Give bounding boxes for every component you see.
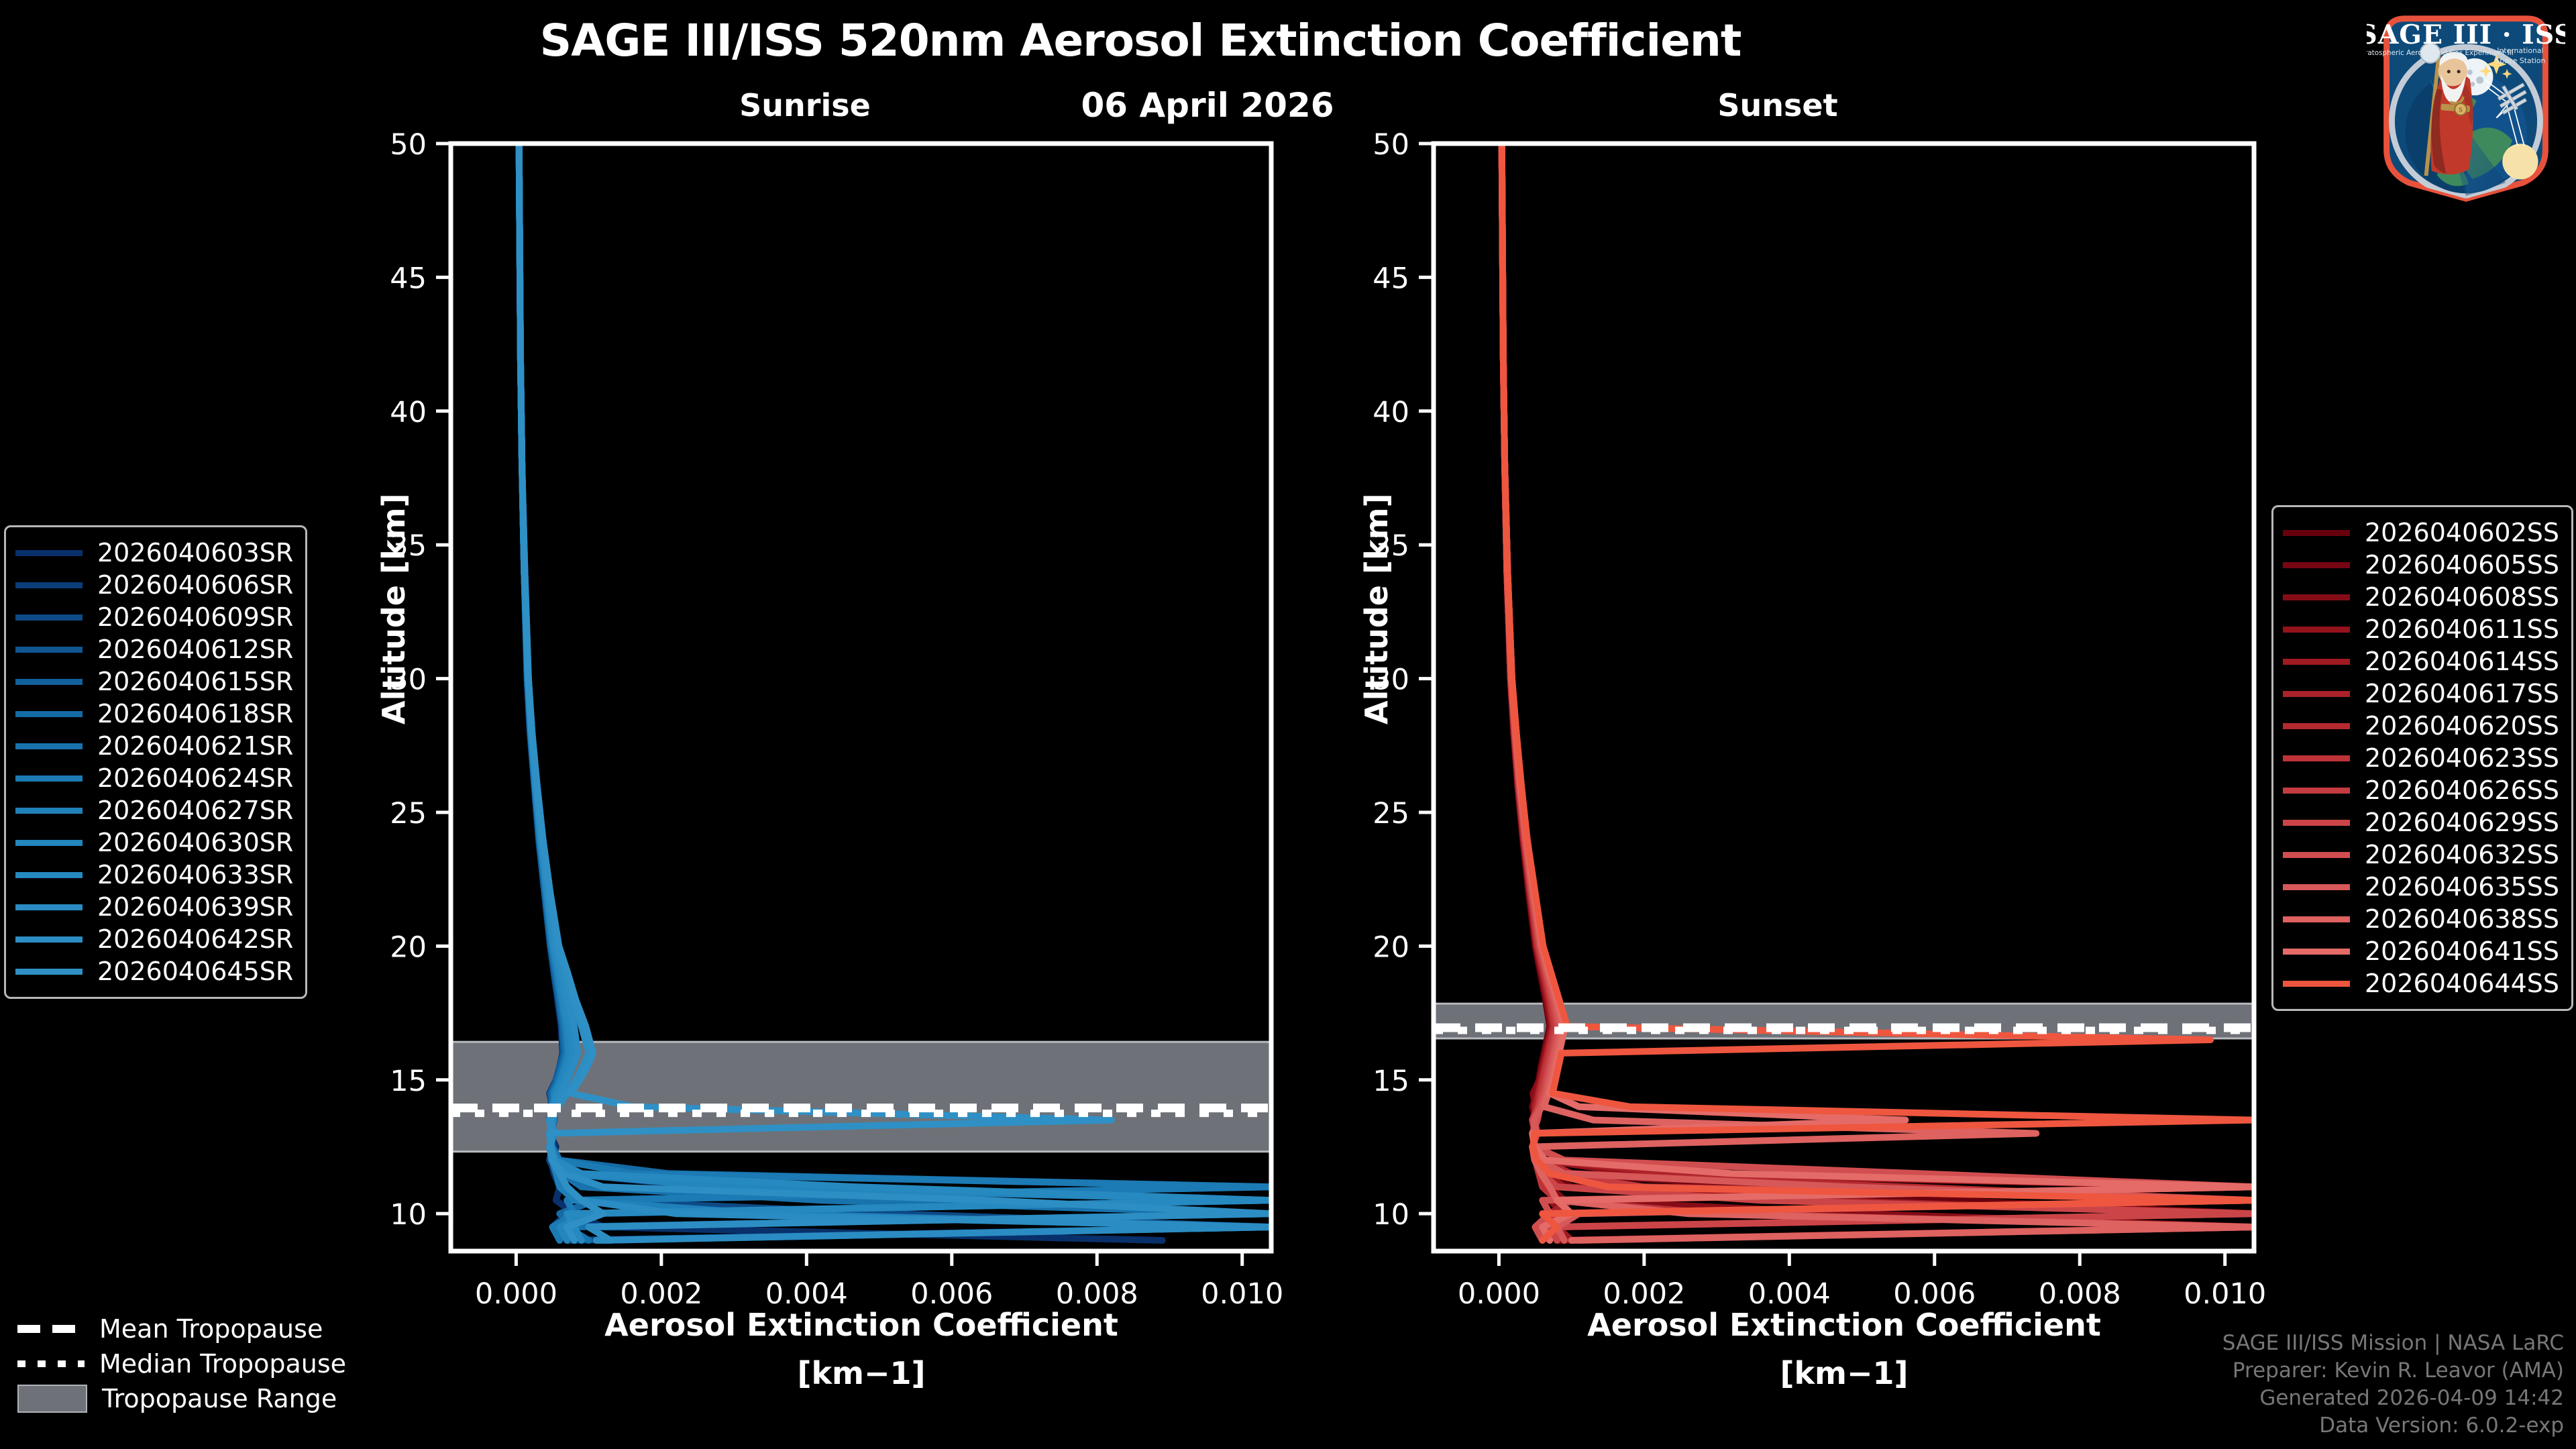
- legend-item[interactable]: 2026040624SR: [15, 762, 293, 794]
- tropopause-legend-label: Mean Tropopause: [99, 1314, 323, 1344]
- legend-item-label: 2026040611SS: [2365, 614, 2559, 644]
- legend-color-swatch: [15, 808, 83, 814]
- legend-color-swatch: [2283, 788, 2350, 794]
- legend-item[interactable]: 2026040614SS: [2283, 645, 2559, 678]
- legend-item[interactable]: 2026040641SS: [2283, 935, 2559, 967]
- tropopause-line-swatch: [17, 1325, 85, 1333]
- x-tick-label: 0.000: [475, 1277, 557, 1311]
- legend-item-label: 2026040615SR: [97, 667, 293, 696]
- legend-item-label: 2026040644SS: [2365, 969, 2559, 998]
- legend-item-label: 2026040626SS: [2365, 775, 2559, 805]
- legend-item[interactable]: 2026040618SR: [15, 698, 293, 730]
- tropopause-legend-item[interactable]: Median Tropopause: [17, 1346, 346, 1381]
- legend-color-swatch: [15, 775, 83, 782]
- x-tick-label: 0.010: [1201, 1277, 1283, 1311]
- legend-item[interactable]: 2026040620SS: [2283, 710, 2559, 742]
- x-tick-label: 0.002: [620, 1277, 702, 1311]
- series-line: [1502, 144, 2254, 1240]
- legend-item[interactable]: 2026040608SS: [2283, 581, 2559, 613]
- series-line: [1502, 144, 2254, 1240]
- legend-item-label: 2026040629SS: [2365, 808, 2559, 837]
- legend-color-swatch: [15, 872, 83, 878]
- x-tick-label: 0.006: [910, 1277, 993, 1311]
- y-tick-label: 20: [390, 930, 427, 964]
- legend-color-swatch: [15, 679, 83, 685]
- legend-color-swatch: [2283, 627, 2350, 633]
- y-tick-label: 50: [1373, 128, 1409, 162]
- x-tick-label: 0.006: [1893, 1277, 1976, 1311]
- y-tick-label: 10: [1373, 1198, 1409, 1232]
- legend-color-swatch: [15, 969, 83, 975]
- legend-item[interactable]: 2026040609SR: [15, 601, 293, 633]
- legend-item[interactable]: 2026040621SR: [15, 730, 293, 762]
- legend-item[interactable]: 2026040639SR: [15, 891, 293, 923]
- legend-item-label: 2026040623SS: [2365, 743, 2559, 773]
- y-tick-label: 15: [390, 1065, 427, 1098]
- panel-sunrise: 0.0000.0020.0040.0060.0080.0101015202530…: [390, 128, 1283, 1311]
- legend-item-label: 2026040606SR: [97, 570, 293, 600]
- legend-item[interactable]: 2026040603SR: [15, 537, 293, 569]
- legend-item[interactable]: 2026040623SS: [2283, 742, 2559, 774]
- legend-item[interactable]: 2026040626SS: [2283, 774, 2559, 806]
- y-tick-label: 50: [390, 128, 427, 162]
- legend-color-swatch: [2283, 659, 2350, 665]
- legend-color-swatch: [15, 840, 83, 846]
- y-tick-label: 40: [390, 396, 427, 429]
- series-line: [1502, 144, 2254, 1240]
- series-line: [1502, 144, 2254, 1240]
- legend-item-label: 2026040618SR: [97, 699, 293, 729]
- legend-item-label: 2026040624SR: [97, 763, 293, 793]
- tropopause-line-swatch: [17, 1360, 85, 1367]
- y-tick-label: 20: [1373, 930, 1409, 964]
- series-line: [1502, 144, 2254, 1240]
- tropopause-legend-label: Median Tropopause: [99, 1349, 346, 1379]
- x-tick-label: 0.000: [1458, 1277, 1540, 1311]
- legend-color-swatch: [15, 936, 83, 943]
- series-line: [1502, 144, 2254, 1240]
- legend-item-label: 2026040620SS: [2365, 711, 2559, 741]
- tropopause-legend-label: Tropopause Range: [102, 1384, 337, 1413]
- legend-item[interactable]: 2026040606SR: [15, 569, 293, 601]
- legend-color-swatch: [15, 647, 83, 653]
- credit-line-version: Data Version: 6.0.2-exp: [2222, 1412, 2564, 1440]
- legend-item[interactable]: 2026040602SS: [2283, 517, 2559, 549]
- series-line: [1502, 144, 2254, 1240]
- legend-item-label: 2026040642SR: [97, 924, 293, 954]
- tropopause-legend[interactable]: Mean TropopauseMedian TropopauseTropopau…: [17, 1311, 346, 1416]
- right-xaxis-title: Aerosol Extinction Coefficient: [1434, 1307, 2255, 1343]
- legend-color-swatch: [2283, 820, 2350, 826]
- left-xaxis-unit: [km−1]: [451, 1355, 1272, 1391]
- legend-item-label: 2026040603SR: [97, 538, 293, 568]
- y-tick-label: 25: [1373, 797, 1409, 830]
- legend-color-swatch: [2283, 723, 2350, 729]
- tropopause-legend-item[interactable]: Tropopause Range: [17, 1381, 346, 1416]
- credits-block: SAGE III/ISS Mission | NASA LaRC Prepare…: [2222, 1330, 2564, 1440]
- legend-item[interactable]: 2026040645SR: [15, 955, 293, 987]
- legend-color-swatch: [2283, 949, 2350, 955]
- aerosol-extinction-chart: 0.0000.0020.0040.0060.0080.0101015202530…: [0, 0, 2576, 1449]
- legend-color-swatch: [15, 743, 83, 749]
- legend-item-label: 2026040617SS: [2365, 679, 2559, 708]
- credit-line-preparer: Preparer: Kevin R. Leavor (AMA): [2222, 1357, 2564, 1385]
- legend-item-label: 2026040627SR: [97, 796, 293, 825]
- legend-item-label: 2026040638SS: [2365, 904, 2559, 934]
- x-tick-label: 0.010: [2184, 1277, 2266, 1311]
- legend-color-swatch: [2283, 691, 2350, 697]
- y-tick-label: 25: [390, 797, 427, 830]
- legend-item[interactable]: 2026040615SR: [15, 665, 293, 698]
- right-xaxis-unit: [km−1]: [1434, 1355, 2255, 1391]
- legend-item-label: 2026040645SR: [97, 957, 293, 986]
- x-tick-label: 0.004: [1748, 1277, 1831, 1311]
- legend-item-label: 2026040621SR: [97, 731, 293, 761]
- legend-item[interactable]: 2026040633SR: [15, 859, 293, 891]
- legend-item[interactable]: 2026040611SS: [2283, 613, 2559, 645]
- tropopause-range-swatch: [17, 1385, 87, 1413]
- legend-item-label: 2026040630SR: [97, 828, 293, 857]
- legend-item[interactable]: 2026040605SS: [2283, 549, 2559, 581]
- legend-color-swatch: [2283, 755, 2350, 761]
- legend-color-swatch: [15, 550, 83, 556]
- legend-item[interactable]: 2026040635SS: [2283, 871, 2559, 903]
- x-tick-label: 0.002: [1603, 1277, 1685, 1311]
- legend-color-swatch: [15, 904, 83, 910]
- credit-line-mission: SAGE III/ISS Mission | NASA LaRC: [2222, 1330, 2564, 1357]
- legend-item-label: 2026040602SS: [2365, 518, 2559, 547]
- legend-color-swatch: [2283, 562, 2350, 568]
- x-tick-label: 0.008: [1056, 1277, 1138, 1311]
- y-tick-label: 10: [390, 1198, 427, 1232]
- legend-item-label: 2026040605SS: [2365, 550, 2559, 580]
- left-yaxis-title: Altitude [km]: [376, 493, 412, 724]
- legend-color-swatch: [2283, 530, 2350, 536]
- legend-color-swatch: [2283, 981, 2350, 987]
- legend-item-label: 2026040635SS: [2365, 872, 2559, 902]
- series-group: [1502, 144, 2254, 1240]
- series-line: [1502, 144, 2254, 1240]
- y-tick-label: 45: [390, 262, 427, 295]
- y-tick-label: 40: [1373, 396, 1409, 429]
- legend-color-swatch: [2283, 884, 2350, 890]
- credit-line-generated: Generated 2026-04-09 14:42: [2222, 1385, 2564, 1412]
- legend-item[interactable]: 2026040642SR: [15, 923, 293, 955]
- legend-item-label: 2026040614SS: [2365, 647, 2559, 676]
- x-tick-label: 0.008: [2039, 1277, 2121, 1311]
- legend-item-label: 2026040641SS: [2365, 936, 2559, 966]
- legend-color-swatch: [2283, 594, 2350, 600]
- y-tick-label: 15: [1373, 1065, 1409, 1098]
- legend-color-swatch: [2283, 852, 2350, 858]
- y-tick-label: 45: [1373, 262, 1409, 295]
- series-line: [1502, 144, 2254, 1240]
- legend-color-swatch: [15, 614, 83, 621]
- legend-item[interactable]: 2026040629SS: [2283, 806, 2559, 839]
- legend-color-swatch: [15, 711, 83, 717]
- left-xaxis-title: Aerosol Extinction Coefficient: [451, 1307, 1272, 1343]
- legend-item-label: 2026040639SR: [97, 892, 293, 922]
- legend-item[interactable]: 2026040630SR: [15, 826, 293, 859]
- series-line: [1502, 144, 2254, 1240]
- legend-color-swatch: [15, 582, 83, 588]
- legend-item-label: 2026040608SS: [2365, 582, 2559, 612]
- series-line: [1502, 144, 2254, 1240]
- x-tick-label: 0.004: [765, 1277, 848, 1311]
- panel-sunset: 0.0000.0020.0040.0060.0080.0101015202530…: [1373, 128, 2266, 1311]
- series-line: [1502, 144, 2254, 1240]
- legend-color-swatch: [2283, 916, 2350, 922]
- legend-item[interactable]: 2026040644SS: [2283, 967, 2559, 1000]
- right-yaxis-title: Altitude [km]: [1358, 493, 1395, 724]
- legend-item[interactable]: 2026040617SS: [2283, 678, 2559, 710]
- sunset-legend[interactable]: 2026040602SS2026040605SS2026040608SS2026…: [2271, 505, 2573, 1011]
- legend-item-label: 2026040632SS: [2365, 840, 2559, 869]
- legend-item[interactable]: 2026040632SS: [2283, 839, 2559, 871]
- series-line: [1502, 144, 2254, 1240]
- legend-item[interactable]: 2026040627SR: [15, 794, 293, 826]
- legend-item[interactable]: 2026040612SR: [15, 633, 293, 665]
- legend-item[interactable]: 2026040638SS: [2283, 903, 2559, 935]
- tropopause-legend-item[interactable]: Mean Tropopause: [17, 1311, 346, 1346]
- legend-item-label: 2026040609SR: [97, 602, 293, 632]
- legend-item-label: 2026040633SR: [97, 860, 293, 890]
- legend-item-label: 2026040612SR: [97, 635, 293, 664]
- series-line: [1502, 144, 2254, 1240]
- series-line: [1502, 144, 2254, 1240]
- sunrise-legend[interactable]: 2026040603SR2026040606SR2026040609SR2026…: [4, 525, 307, 999]
